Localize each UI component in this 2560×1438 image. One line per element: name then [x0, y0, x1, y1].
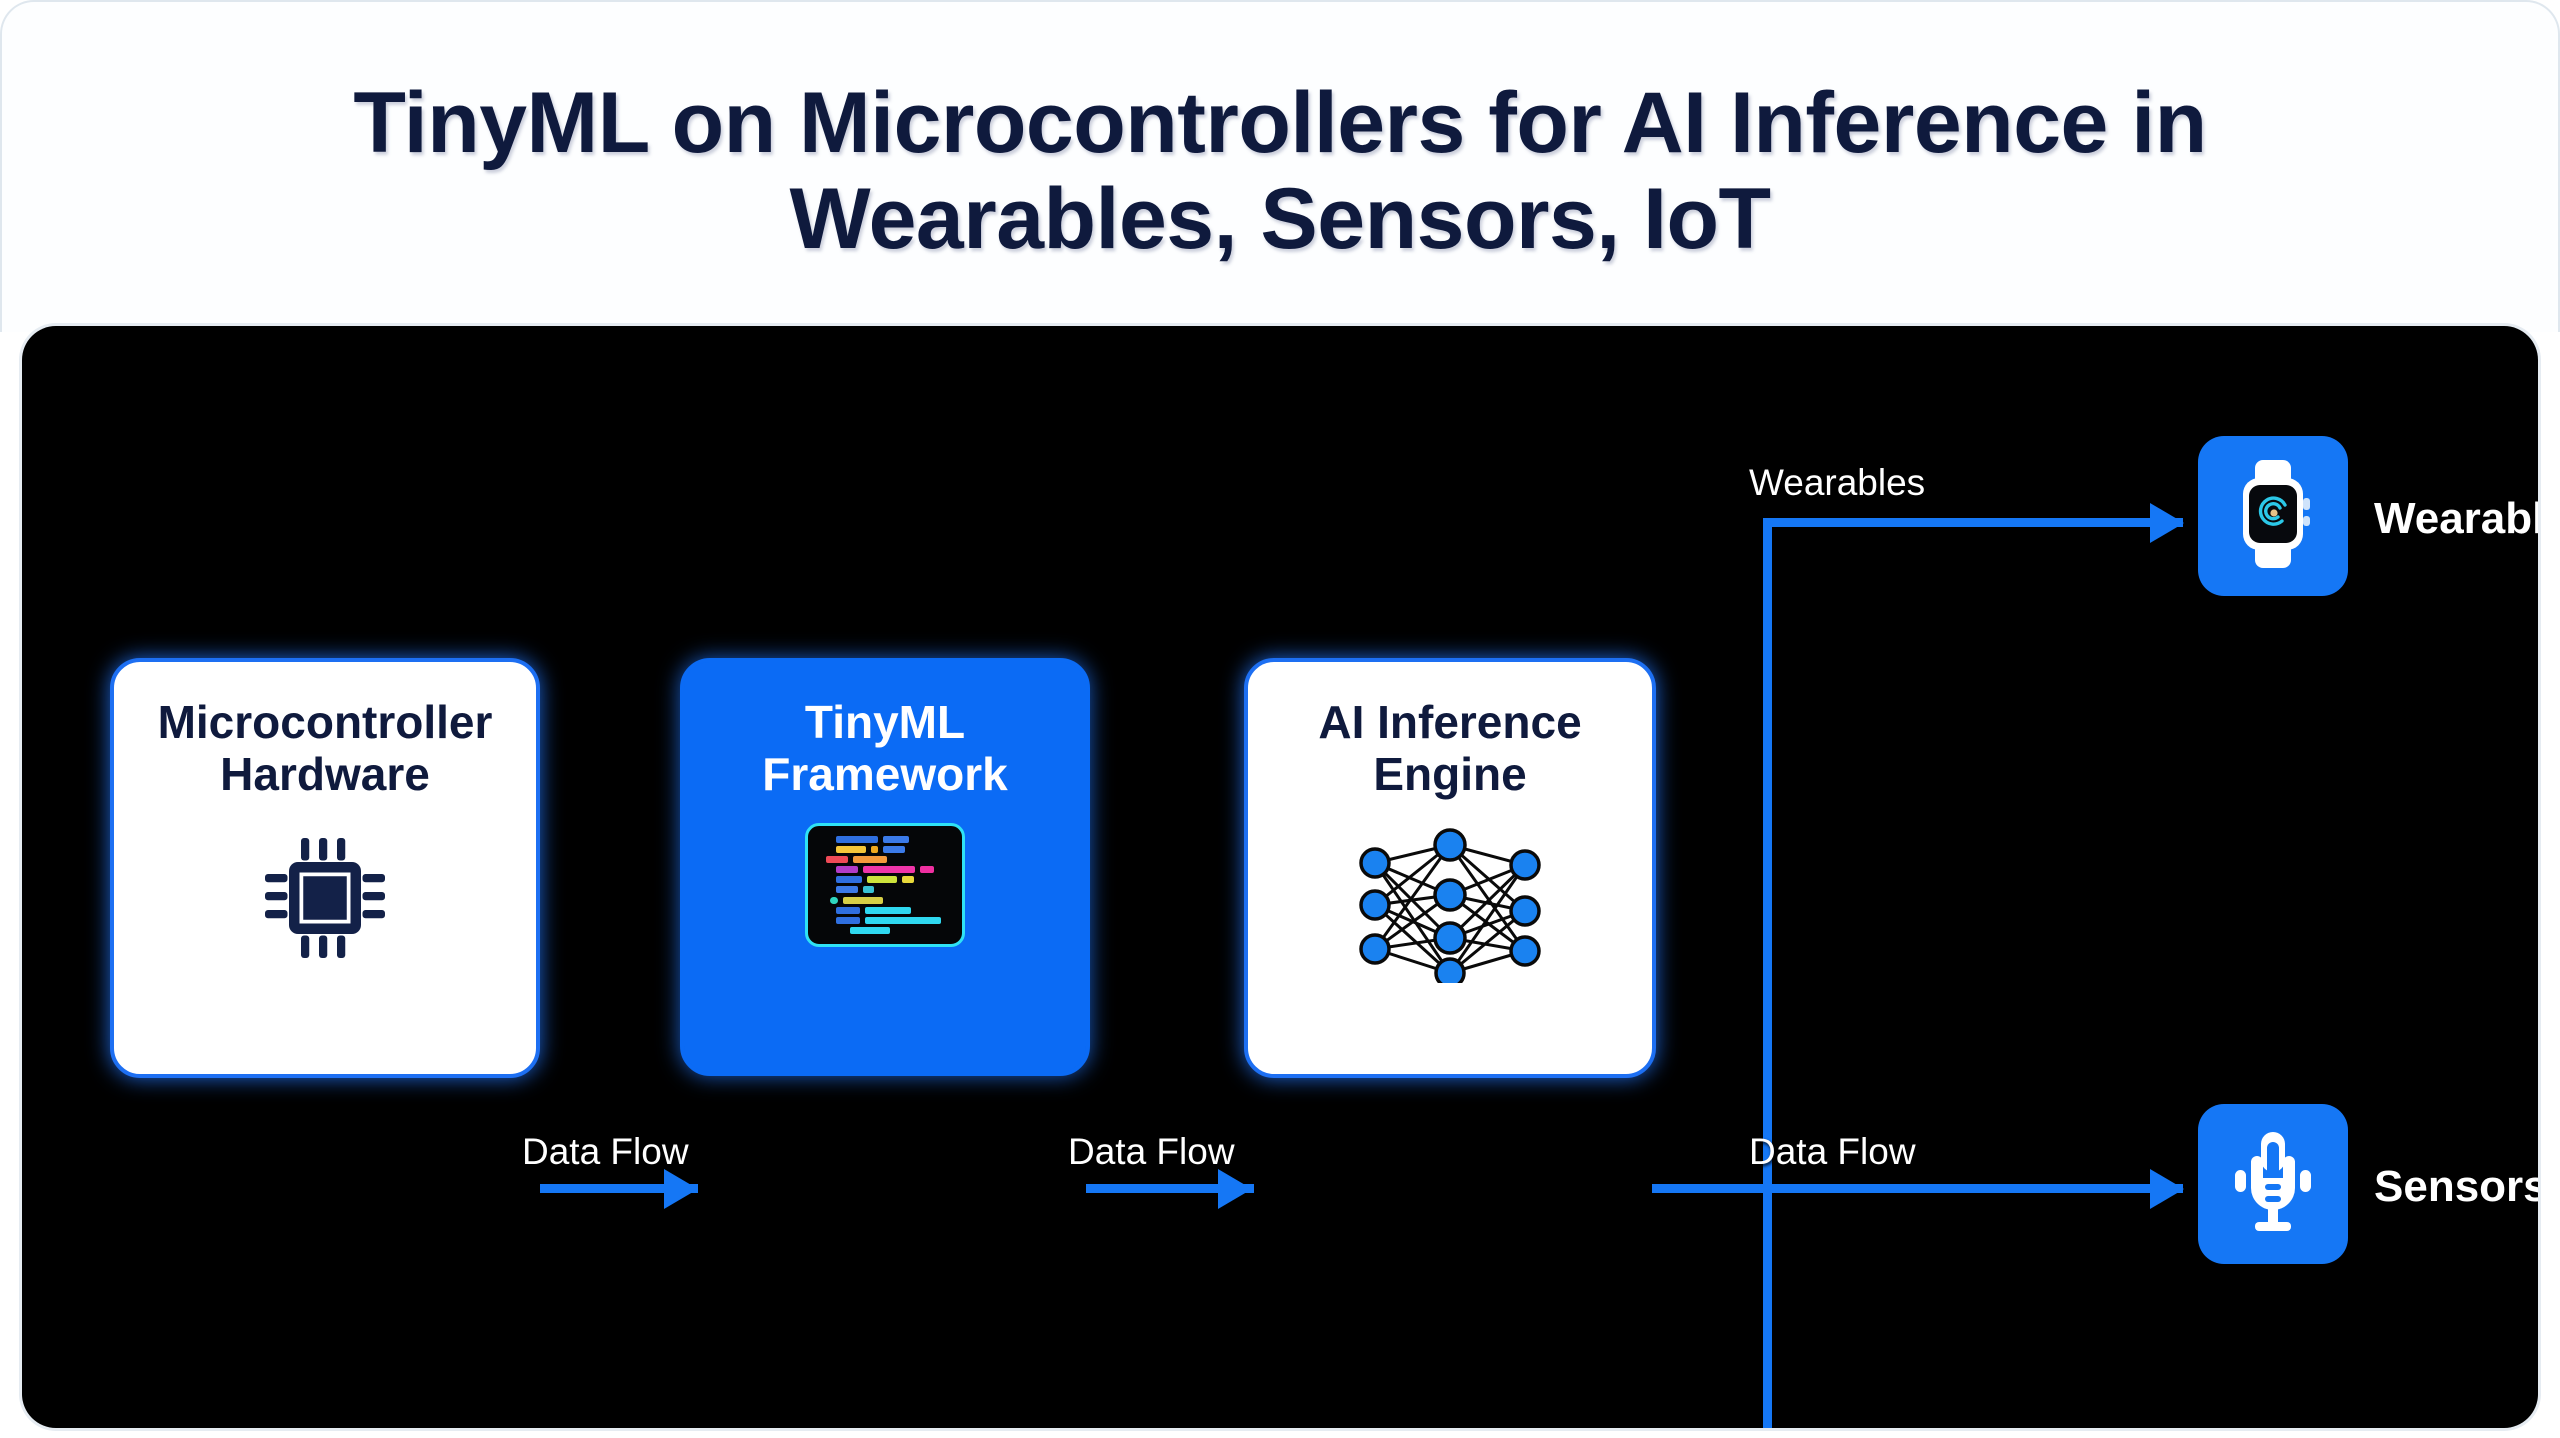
node-tinyml-framework[interactable]: TinyML Framework	[680, 658, 1090, 1076]
node-ai-inference-engine-label: AI Inference Engine	[1318, 696, 1581, 801]
connector-ai-to-wearables-line	[1763, 518, 2183, 527]
node-tinyml-framework-label: TinyML Framework	[762, 696, 1007, 801]
output-tile-wearables[interactable]	[2198, 436, 2348, 596]
node-microcontroller-hardware-label: Microcontroller Hardware	[158, 696, 493, 801]
output-label-wearables: Wearables	[2374, 494, 2538, 544]
diagram-page: TinyML on Microcontrollers for AI Infere…	[0, 0, 2560, 1438]
edge-label-mcu-to-tinyml: Data Flow	[522, 1131, 689, 1173]
header-card: TinyML on Microcontrollers for AI Infere…	[0, 0, 2560, 332]
smartwatch-icon	[2227, 458, 2319, 575]
node-ai-inference-engine[interactable]: AI Inference Engine	[1244, 658, 1656, 1078]
edge-label-ai-to-wearables: Wearables	[1749, 462, 1925, 504]
chip-icon	[250, 823, 400, 973]
connector-ai-to-wearables-arrowhead	[2150, 503, 2184, 543]
edge-label-tinyml-to-ai: Data Flow	[1068, 1131, 1235, 1173]
code-editor-icon	[805, 823, 965, 947]
connector-mcu-to-tinyml-arrowhead	[664, 1169, 698, 1209]
neural-network-icon	[1345, 823, 1555, 983]
edge-label-ai-to-sensors: Data Flow	[1749, 1131, 1916, 1173]
node-microcontroller-hardware[interactable]: Microcontroller Hardware	[110, 658, 540, 1078]
microphone-sensor-icon	[2225, 1126, 2321, 1243]
connector-ai-to-sensors-arrowhead	[2150, 1169, 2184, 1209]
page-title: TinyML on Microcontrollers for AI Infere…	[180, 67, 2380, 268]
connector-ai-trunk-line	[1652, 1184, 1772, 1193]
connector-ai-to-sensors-line	[1763, 1184, 2183, 1193]
connector-ai-branch-vertical	[1763, 518, 1772, 1428]
output-tile-sensors[interactable]	[2198, 1104, 2348, 1264]
output-label-sensors: Sensors	[2374, 1162, 2538, 1212]
diagram-canvas: Data Flow Data Flow Wearables Data Flow …	[22, 326, 2538, 1428]
connector-tinyml-to-ai-arrowhead	[1218, 1169, 1252, 1209]
